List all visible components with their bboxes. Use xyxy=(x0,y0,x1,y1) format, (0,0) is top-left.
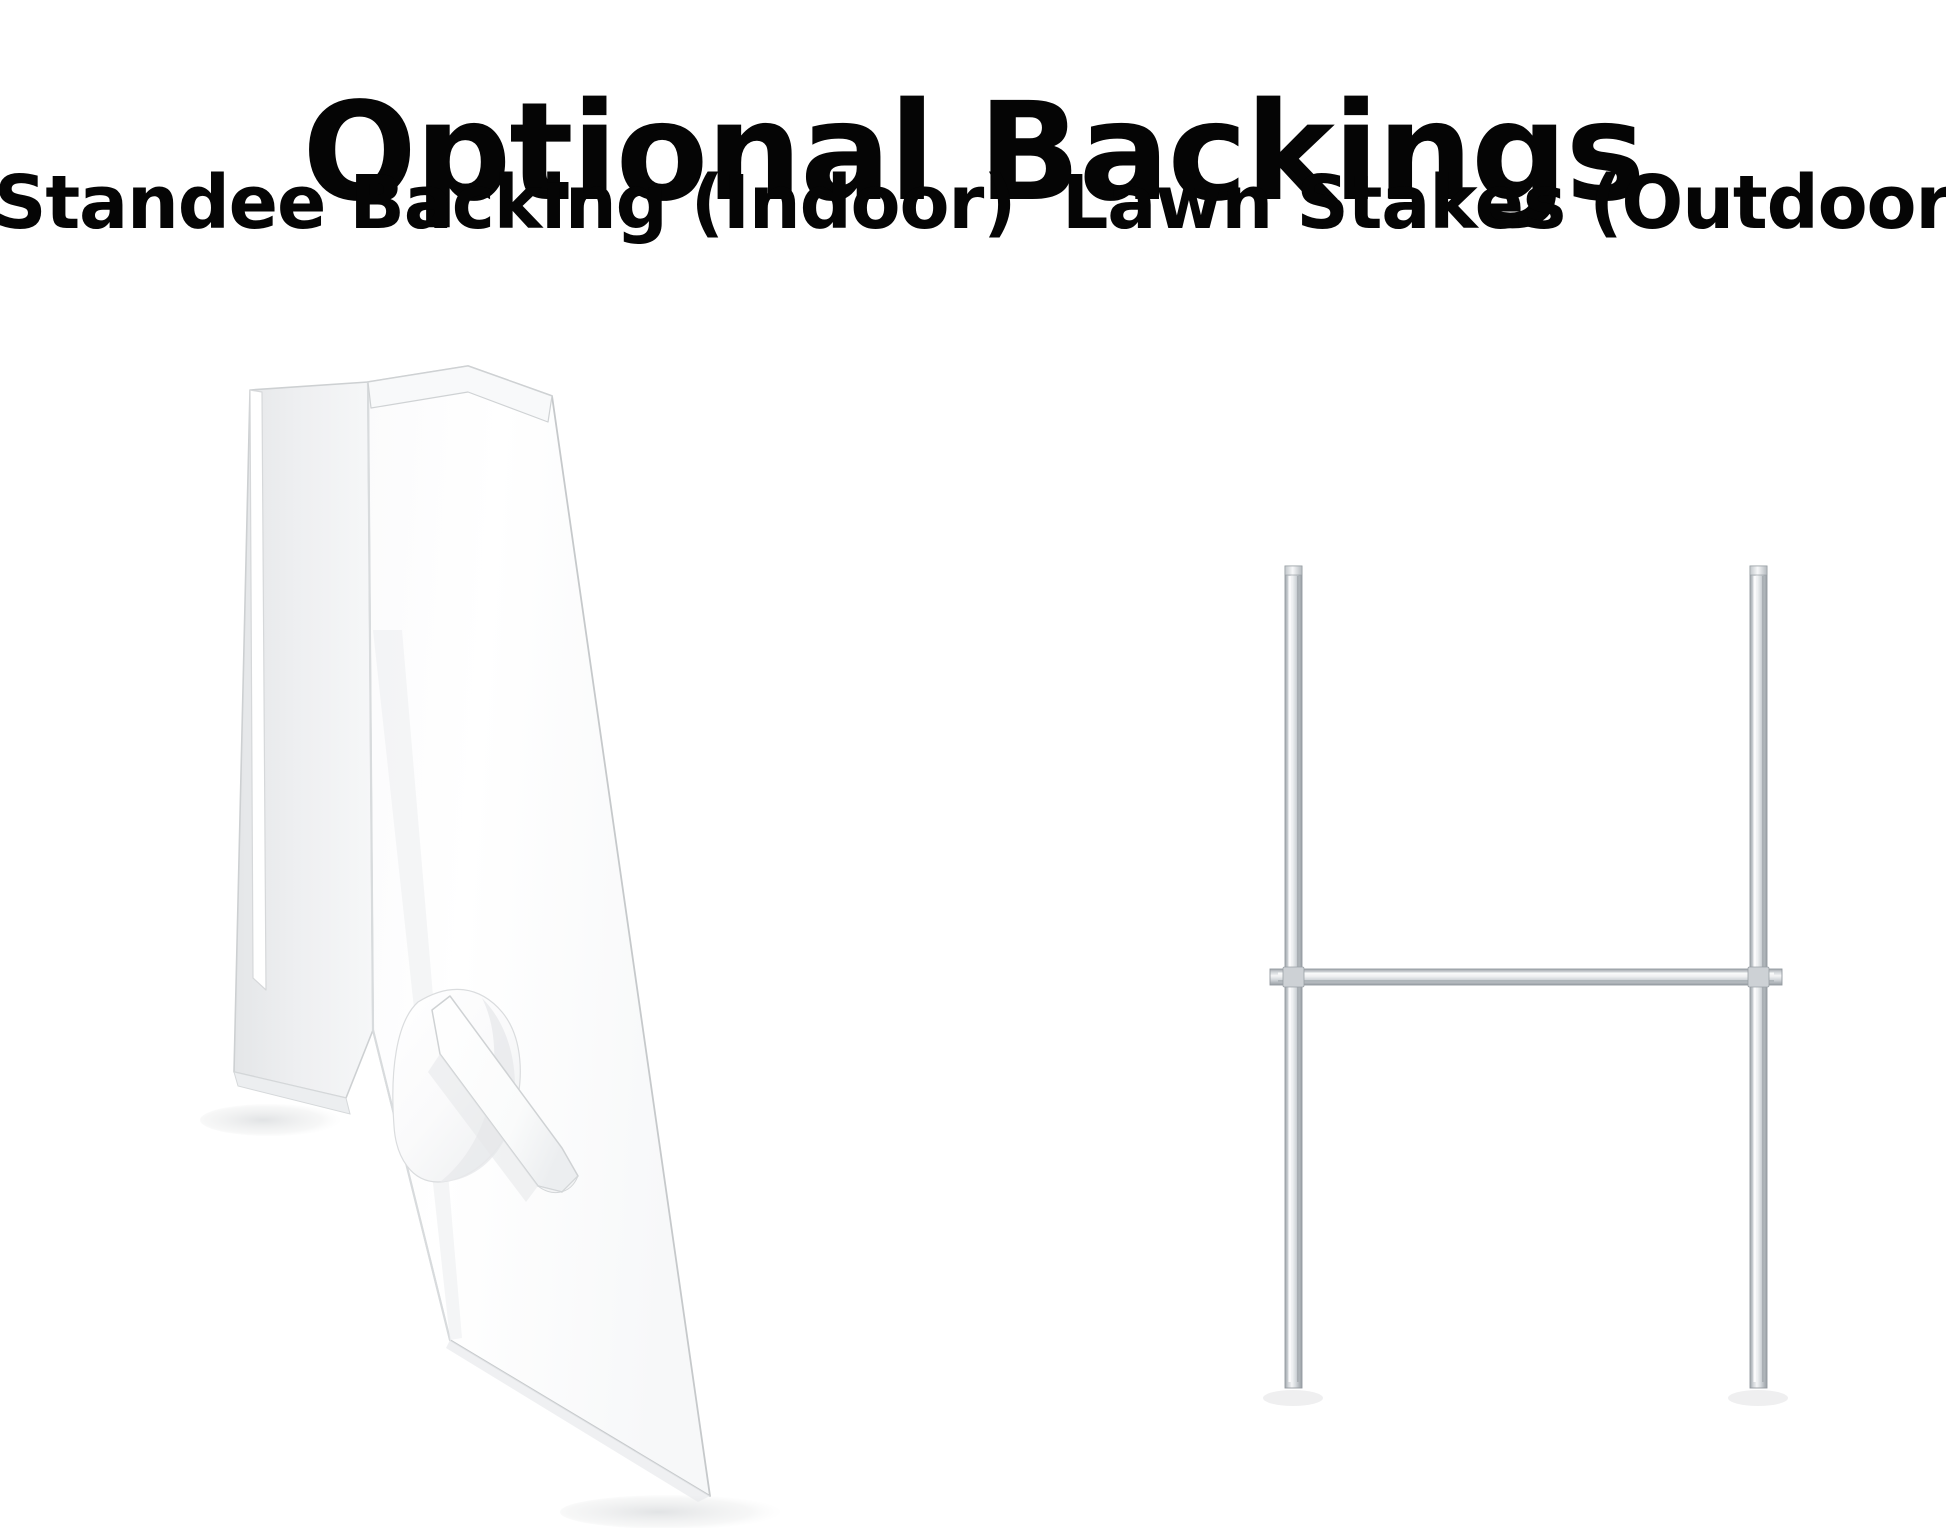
lawn-stake-joint-right xyxy=(1748,967,1769,987)
standee-ground-shadow-left xyxy=(200,1104,340,1136)
lawn-stake-shadow-right xyxy=(1728,1390,1788,1406)
section-label-standee: Standee Backing (Indoor) xyxy=(0,166,1015,240)
standee-backing-illustration xyxy=(150,330,830,1528)
section-label-lawn-stakes: Lawn Stakes (Outdoor) xyxy=(1062,166,1946,240)
lawn-stake-shadow-left xyxy=(1263,1390,1323,1406)
lawn-stake-joint-left xyxy=(1283,967,1304,987)
lawn-stakes-illustration xyxy=(1230,520,1850,1450)
page-root: Optional Backings Standee Backing (Indoo… xyxy=(0,0,1946,1528)
lawn-stake-crossbar xyxy=(1270,969,1782,985)
section-labels-row: Standee Backing (Indoor) Lawn Stakes (Ou… xyxy=(0,166,1946,286)
standee-ground-shadow-bottom xyxy=(560,1495,780,1528)
standee-backing-svg xyxy=(150,330,830,1528)
lawn-stakes-svg xyxy=(1230,520,1850,1450)
